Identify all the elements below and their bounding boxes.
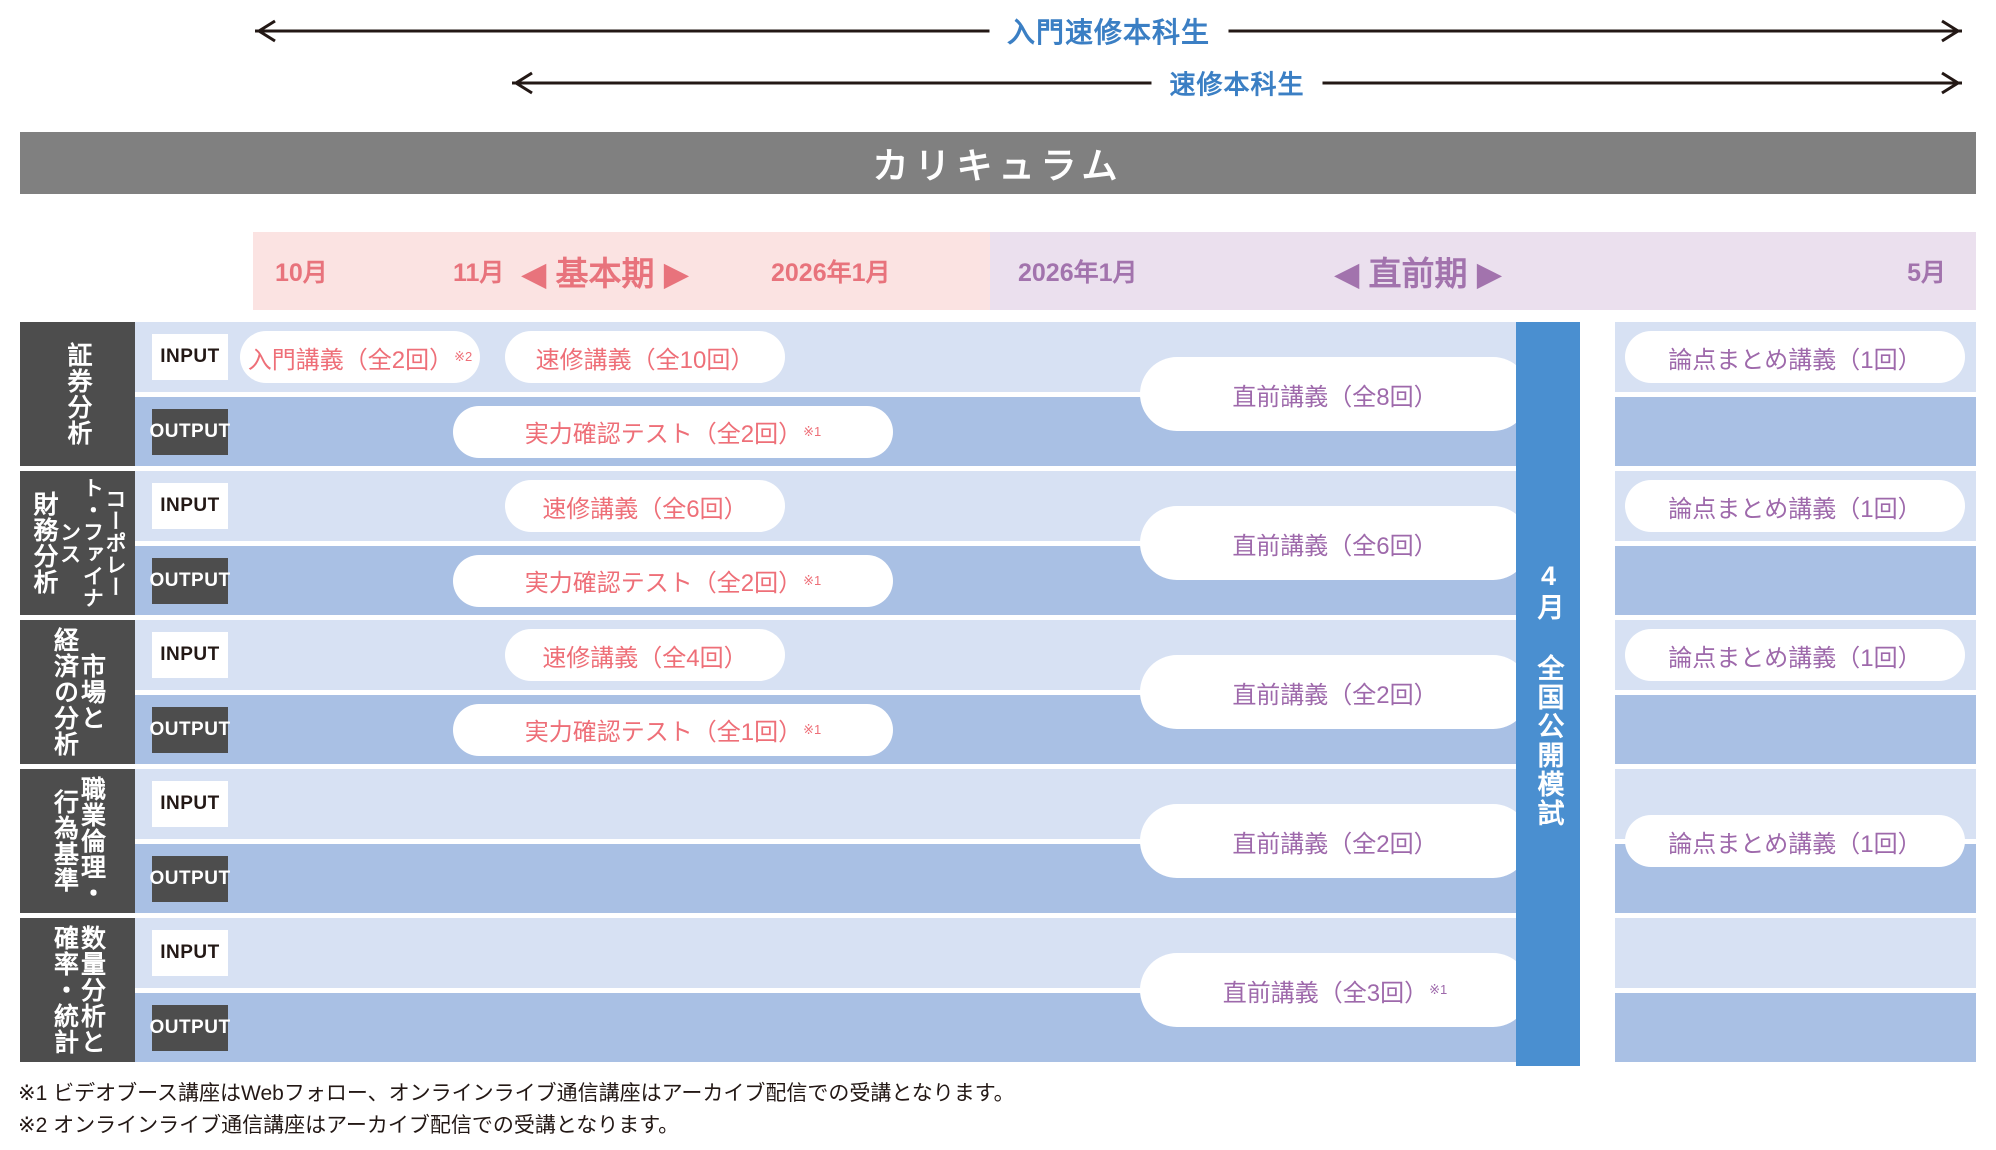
arrow-head-left-icon (512, 70, 538, 96)
output-pill[interactable]: 実力確認テスト（全2回）※1 (453, 406, 893, 458)
curriculum-diagram: 入門速修本科生 速修本科生 カリキュラム 10月 11月 ◀ 基本期 ▶ 202… (0, 0, 1996, 1150)
input-badge: INPUT (152, 632, 228, 678)
subject-label: 証券分析 (20, 322, 135, 466)
course-span-arrow-sokushu: 速修本科生 (512, 60, 1962, 106)
month-basic-mid: 11月 (453, 253, 504, 289)
course-span-arrow-nyumon: 入門速修本科生 (255, 8, 1962, 54)
subject-label-main: 市場と (78, 653, 105, 731)
pill-label: 論点まとめ講義（1回） (1668, 340, 1921, 375)
pill-label: 直前講義（全2回） (1232, 824, 1437, 859)
subject-label-sub: 財務分析 (30, 491, 57, 595)
summary-pill[interactable]: 論点まとめ講義（1回） (1625, 480, 1965, 532)
month-basic-end: 2026年1月 (771, 253, 891, 289)
output-badge: OUTPUT (152, 856, 228, 902)
output-pill[interactable]: 実力確認テスト（全1回）※1 (453, 704, 893, 756)
subject-label-main: コーポレート・ファイナンス (57, 471, 125, 615)
lane-band (1615, 993, 1976, 1062)
subject-row: コーポレート・ファイナンス財務分析INPUT速修講義（全6回）OUTPUT実力確… (20, 471, 1976, 615)
footnote-1: ※1 ビデオブース講座はWebフォロー、オンラインライブ通信講座はアーカイブ配信… (18, 1078, 1418, 1110)
phase-label-direct: ◀ 直前期 ▶ (1334, 247, 1502, 295)
arrow-head-right-icon (1936, 18, 1962, 44)
subject-label-main: 数量分析と (78, 925, 105, 1055)
input-pill[interactable]: 入門講義（全2回）※2 (240, 331, 480, 383)
subject-lanes: INPUT速修講義（全4回）OUTPUT実力確認テスト（全1回）※1直前講義（全… (135, 620, 1976, 764)
page-title: カリキュラム (873, 137, 1124, 189)
chokuzen-pill[interactable]: 直前講義（全2回） (1140, 804, 1530, 878)
phase-band-direct: 2026年1月 ◀ 直前期 ▶ 5月 (990, 232, 1976, 310)
arrow-head-right-icon (1936, 70, 1962, 96)
lane-band (1615, 918, 1976, 988)
subject-lanes: INPUT入門講義（全2回）※2速修講義（全10回）OUTPUT実力確認テスト（… (135, 322, 1976, 466)
input-badge: INPUT (152, 930, 228, 976)
month-header-row: 10月 11月 ◀ 基本期 ▶ 2026年1月 2026年1月 ◀ 直前期 ▶ … (253, 232, 1976, 310)
chokuzen-pill[interactable]: 直前講義（全2回） (1140, 655, 1530, 729)
lane-output: OUTPUT実力確認テスト（全2回）※1 (135, 397, 1976, 466)
pill-label: 直前講義（全3回） (1223, 973, 1428, 1008)
pill-label: 実力確認テスト（全1回） (525, 712, 802, 747)
output-badge: OUTPUT (152, 409, 228, 455)
subject-label: 職業倫理・行為基準 (20, 769, 135, 913)
month-direct-end: 5月 (1907, 253, 1946, 289)
lane-output: OUTPUT (135, 993, 1976, 1062)
subject-row: 数量分析と確率・統計INPUTOUTPUT直前講義（全3回）※1 (20, 918, 1976, 1062)
subject-label-sub: 確率・統計 (51, 925, 78, 1055)
lane-input: INPUT (135, 918, 1976, 988)
input-pill[interactable]: 速修講義（全10回） (505, 331, 785, 383)
phase-band-basic: 10月 11月 ◀ 基本期 ▶ 2026年1月 (253, 232, 990, 310)
output-badge: OUTPUT (152, 558, 228, 604)
footnotes: ※1 ビデオブース講座はWebフォロー、オンラインライブ通信講座はアーカイブ配信… (18, 1078, 1418, 1141)
arrow-head-left-icon (255, 18, 281, 44)
subject-row: 市場と経済の分析INPUT速修講義（全4回）OUTPUT実力確認テスト（全1回）… (20, 620, 1976, 764)
pill-footnote-marker: ※1 (803, 722, 821, 738)
subject-label-sub: 経済の分析 (51, 627, 78, 757)
lane-band (1615, 546, 1976, 615)
subject-row: 証券分析INPUT入門講義（全2回）※2速修講義（全10回）OUTPUT実力確認… (20, 322, 1976, 466)
chokuzen-pill[interactable]: 直前講義（全8回） (1140, 357, 1530, 431)
pill-footnote-marker: ※1 (803, 573, 821, 589)
output-badge: OUTPUT (152, 707, 228, 753)
month-direct-start: 2026年1月 (1018, 253, 1138, 289)
pill-label: 論点まとめ講義（1回） (1668, 824, 1921, 859)
pill-label: 直前講義（全2回） (1232, 675, 1437, 710)
subject-lanes: INPUTOUTPUT直前講義（全3回）※1 (135, 918, 1976, 1062)
pill-label: 実力確認テスト（全2回） (525, 563, 802, 598)
output-pill[interactable]: 実力確認テスト（全2回）※1 (453, 555, 893, 607)
pill-label: 実力確認テスト（全2回） (525, 414, 802, 449)
input-badge: INPUT (152, 483, 228, 529)
footnote-2: ※2 オンラインライブ通信講座はアーカイブ配信での受講となります。 (18, 1110, 1418, 1142)
chokuzen-pill[interactable]: 直前講義（全3回）※1 (1140, 953, 1530, 1027)
input-badge: INPUT (152, 334, 228, 380)
pill-label: 速修講義（全10回） (536, 340, 755, 375)
subject-row: 職業倫理・行為基準INPUTOUTPUT直前講義（全2回）論点まとめ講義（1回） (20, 769, 1976, 913)
lane-output: OUTPUT実力確認テスト（全1回）※1 (135, 695, 1976, 764)
pill-label: 速修講義（全6回） (542, 489, 747, 524)
subject-label-sub: 行為基準 (51, 789, 78, 893)
arrow-label-nyumon: 入門速修本科生 (989, 11, 1228, 51)
summary-pill[interactable]: 論点まとめ講義（1回） (1625, 815, 1965, 867)
subject-label: 数量分析と確率・統計 (20, 918, 135, 1062)
month-basic-start: 10月 (275, 253, 328, 289)
subject-label: コーポレート・ファイナンス財務分析 (20, 471, 135, 615)
curriculum-grid: 証券分析INPUT入門講義（全2回）※2速修講義（全10回）OUTPUT実力確認… (20, 322, 1976, 1067)
lane-band (1615, 695, 1976, 764)
lane-output: OUTPUT実力確認テスト（全2回）※1 (135, 546, 1976, 615)
national-mock-exam-band: 4月 全国公開模試 (1516, 322, 1580, 1066)
input-pill[interactable]: 速修講義（全4回） (505, 629, 785, 681)
output-badge: OUTPUT (152, 1005, 228, 1051)
lane-band (1615, 397, 1976, 466)
pill-label: 論点まとめ講義（1回） (1668, 638, 1921, 673)
input-pill[interactable]: 速修講義（全6回） (505, 480, 785, 532)
phase-label-basic: ◀ 基本期 ▶ (521, 247, 689, 295)
summary-pill[interactable]: 論点まとめ講義（1回） (1625, 331, 1965, 383)
chokuzen-pill[interactable]: 直前講義（全6回） (1140, 506, 1530, 580)
pill-label: 直前講義（全8回） (1232, 377, 1437, 412)
pill-label: 入門講義（全2回） (248, 340, 453, 375)
pill-footnote-marker: ※1 (803, 424, 821, 440)
pill-label: 速修講義（全4回） (542, 638, 747, 673)
pill-label: 論点まとめ講義（1回） (1668, 489, 1921, 524)
pill-label: 直前講義（全6回） (1232, 526, 1437, 561)
pill-footnote-marker: ※2 (454, 349, 472, 365)
subject-label-main: 職業倫理・ (78, 776, 105, 906)
subject-label-main: 証券分析 (64, 342, 91, 446)
subject-lanes: INPUT速修講義（全6回）OUTPUT実力確認テスト（全2回）※1直前講義（全… (135, 471, 1976, 615)
input-badge: INPUT (152, 781, 228, 827)
pill-footnote-marker: ※1 (1429, 982, 1447, 998)
arrow-label-sokushu: 速修本科生 (1151, 65, 1322, 102)
summary-pill[interactable]: 論点まとめ講義（1回） (1625, 629, 1965, 681)
page-title-bar: カリキュラム (20, 132, 1976, 194)
subject-lanes: INPUTOUTPUT直前講義（全2回）論点まとめ講義（1回） (135, 769, 1976, 913)
exam-band-label: 4月 全国公開模試 (1532, 561, 1563, 828)
subject-label: 市場と経済の分析 (20, 620, 135, 764)
